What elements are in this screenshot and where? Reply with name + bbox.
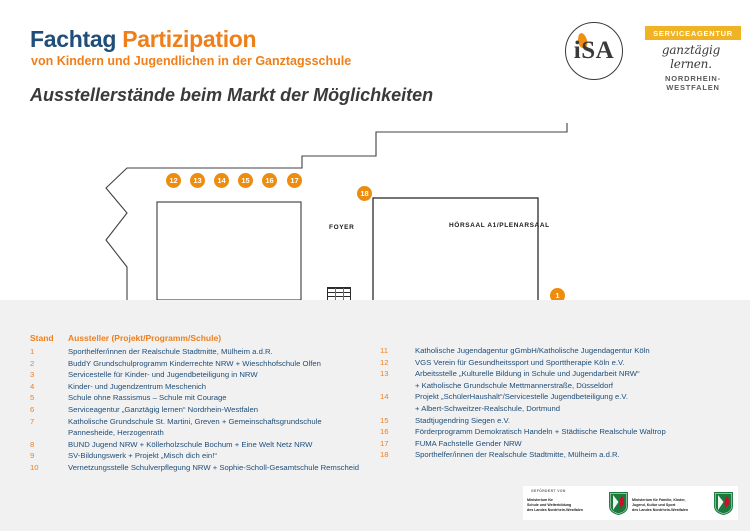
legend-row: 15Stadtjugendring Siegen e.V. — [380, 415, 740, 427]
legend-header-stand: Stand — [30, 333, 68, 343]
legend-row-number: 17 — [380, 438, 415, 450]
legend-row: 17FUMA Fachstelle Gender NRW — [380, 438, 740, 450]
page-title-dark: Fachtag — [30, 26, 116, 52]
foerdert-von-label: GEFÖRDERT VON — [531, 489, 566, 493]
legend-row: 5Schule ohne Rassismus – Schule mit Cour… — [30, 392, 375, 404]
ministry2-line3: des Landes Nordrhein-Westfalen — [632, 508, 710, 513]
section-title: Ausstellerstände beim Markt der Möglichk… — [30, 85, 433, 106]
page-title-orange: Partizipation — [122, 26, 256, 52]
stand-marker-13[interactable]: 13 — [190, 173, 205, 188]
legend-row-number: 8 — [30, 439, 68, 451]
legend-row-text: Vernetzungsstelle Schulverpflegung NRW +… — [68, 462, 375, 474]
page-header: Fachtag Partizipation von Kindern und Ju… — [0, 0, 750, 118]
legend-row-number: 13 — [380, 368, 415, 391]
hoersaal-room — [373, 198, 538, 305]
legend-row: 3Servicestelle für Kinder- und Jugendbet… — [30, 369, 375, 381]
legend-column-left: Stand Aussteller (Projekt/Programm/Schul… — [30, 333, 375, 474]
stand-marker-16[interactable]: 16 — [262, 173, 277, 188]
legend-row: 10Vernetzungsstelle Schulverpflegung NRW… — [30, 462, 375, 474]
legend-row-number: 3 — [30, 369, 68, 381]
legend-row: 8BUND Jugend NRW + Köllerholzschule Boch… — [30, 439, 375, 451]
legend-row-text: Kinder- und Jugendzentrum Meschenich — [68, 381, 375, 393]
legend-row: 16Förderprogramm Demokratisch Handeln + … — [380, 426, 740, 438]
legend-row-text: Arbeitsstelle „Kulturelle Bildung in Sch… — [415, 368, 740, 391]
legend-row-number: 16 — [380, 426, 415, 438]
legend-row-number: 1 — [30, 346, 68, 358]
legend-row-text: Stadtjugendring Siegen e.V. — [415, 415, 740, 427]
legend-row-text: Servicestelle für Kinder- und Jugendbete… — [68, 369, 375, 381]
legend-row-number: 15 — [380, 415, 415, 427]
legend-row-number: 18 — [380, 449, 415, 461]
legend-row-number: 5 — [30, 392, 68, 404]
legend-row: 11Katholische Jugendagentur gGmbH/Kathol… — [380, 345, 740, 357]
stand-marker-15[interactable]: 15 — [238, 173, 253, 188]
floor-plan-outline — [0, 114, 750, 310]
legend-row-number: 11 — [380, 345, 415, 357]
legend-row-number: 7 — [30, 416, 68, 439]
legend-row: 2BuddY Grundschulprogramm Kinderrechte N… — [30, 358, 375, 370]
stand-marker-14[interactable]: 14 — [214, 173, 229, 188]
legend-row-text: Katholische Grundschule St. Martini, Gre… — [68, 416, 375, 439]
legend-row-number: 6 — [30, 404, 68, 416]
ministry-schule-block: Ministerium für Schule und Weiterbildung… — [527, 492, 632, 515]
ministry-familie-text: Ministerium für Familie, Kinder, Jugend,… — [632, 494, 710, 513]
isa-logo-text: iSA — [565, 22, 623, 80]
legend-row-text: Projekt „SchülerHaushalt“/Servicestelle … — [415, 391, 740, 414]
legend-row-text: Sporthelfer/innen der Realschule Stadtmi… — [68, 346, 375, 358]
legend-row-number: 4 — [30, 381, 68, 393]
legend-row-text: Sporthelfer/innen der Realschule Stadtmi… — [415, 449, 740, 461]
legend-row-text: SV-Bildungswerk + Projekt „Misch dich ei… — [68, 450, 375, 462]
legend-row-text: Serviceagentur „Ganztägig lernen“ Nordrh… — [68, 404, 375, 416]
legend-header-aussteller: Aussteller (Projekt/Programm/Schule) — [68, 333, 221, 343]
serviceagentur-state: NORDRHEIN-WESTFALEN — [641, 74, 745, 92]
legend-row: 18Sporthelfer/innen der Realschule Stadt… — [380, 449, 740, 461]
serviceagentur-logo: SERVICEAGENTUR ganztägig lernen. NORDRHE… — [641, 26, 745, 92]
stand-marker-18[interactable]: 18 — [357, 186, 372, 201]
stand-marker-12[interactable]: 12 — [166, 173, 181, 188]
legend-row: 9SV-Bildungswerk + Projekt „Misch dich e… — [30, 450, 375, 462]
legend-row: 4Kinder- und Jugendzentrum Meschenich — [30, 381, 375, 393]
legend-row: 1Sporthelfer/innen der Realschule Stadtm… — [30, 346, 375, 358]
legend-row-number: 14 — [380, 391, 415, 414]
serviceagentur-script: ganztägig lernen. — [641, 43, 741, 71]
ministry1-line3: des Landes Nordrhein-Westfalen — [527, 508, 605, 513]
legend-row-text: Katholische Jugendagentur gGmbH/Katholis… — [415, 345, 740, 357]
legend-row-text: BUND Jugend NRW + Köllerholzschule Bochu… — [68, 439, 375, 451]
legend-row: 12VGS Verein für Gesundheitssport und Sp… — [380, 357, 740, 369]
legend-row-text: VGS Verein für Gesundheitssport und Spor… — [415, 357, 740, 369]
legend-row-text: BuddY Grundschulprogramm Kinderrechte NR… — [68, 358, 375, 370]
legend-row: 7Katholische Grundschule St. Martini, Gr… — [30, 416, 375, 439]
legend-row: 13Arbeitsstelle „Kulturelle Bildung in S… — [380, 368, 740, 391]
legend-column-right: 11Katholische Jugendagentur gGmbH/Kathol… — [380, 345, 740, 461]
nrw-coat-of-arms-icon-2 — [714, 492, 733, 515]
page-title: Fachtag Partizipation — [30, 26, 256, 53]
legend-row-text: Förderprogramm Demokratisch Handeln + St… — [415, 426, 740, 438]
hoersaal-label: HÖRSAAL A1/PLENARSAAL — [449, 222, 550, 229]
isa-logo: iSA — [565, 22, 627, 84]
legend-row-number: 9 — [30, 450, 68, 462]
left-hall-room — [157, 202, 301, 300]
nrw-coat-of-arms-icon — [609, 492, 628, 515]
legend-row-number: 10 — [30, 462, 68, 474]
legend-row-number: 12 — [380, 357, 415, 369]
legend-row: 6Serviceagentur „Ganztägig lernen“ Nordr… — [30, 404, 375, 416]
legend-row: 14Projekt „SchülerHaushalt“/Servicestell… — [380, 391, 740, 414]
serviceagentur-badge: SERVICEAGENTUR — [645, 26, 741, 40]
floor-plan — [0, 114, 750, 310]
legend-row-number: 2 — [30, 358, 68, 370]
legend-row-text: FUMA Fachstelle Gender NRW — [415, 438, 740, 450]
legend-row-text: Schule ohne Rassismus – Schule mit Coura… — [68, 392, 375, 404]
legend-header-row: Stand Aussteller (Projekt/Programm/Schul… — [30, 333, 375, 343]
foyer-label: FOYER — [329, 224, 354, 231]
stand-marker-17[interactable]: 17 — [287, 173, 302, 188]
page-subtitle: von Kindern und Jugendlichen in der Ganz… — [31, 54, 351, 68]
ministry-familie-block: Ministerium für Familie, Kinder, Jugend,… — [632, 492, 737, 515]
building-outline — [106, 123, 567, 304]
ministry-schule-text: Ministerium für Schule und Weiterbildung… — [527, 494, 605, 513]
